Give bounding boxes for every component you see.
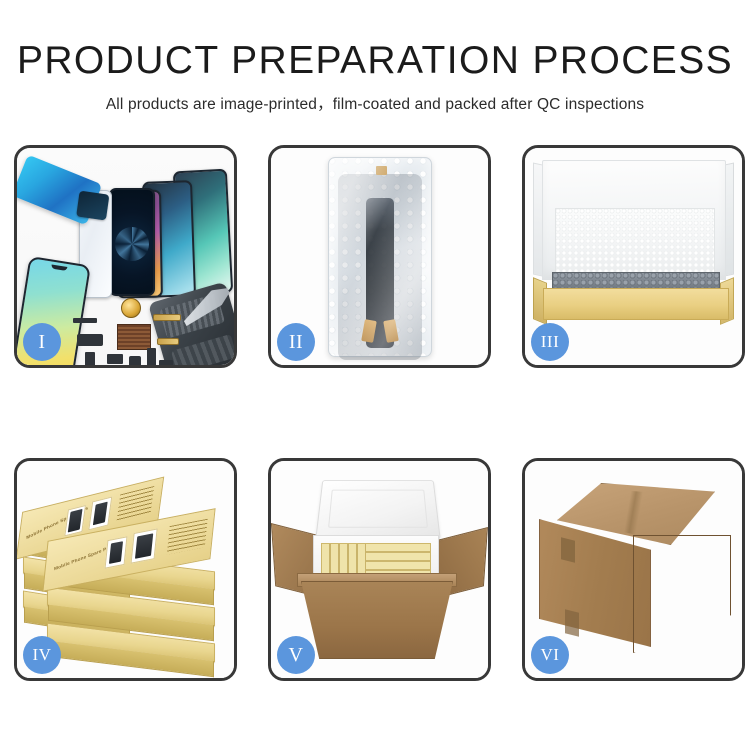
bubble-wrap-bag-icon <box>328 157 432 357</box>
process-step-4[interactable]: Mobile Phone Spare Parts Mobile Phone Sp… <box>14 458 237 681</box>
step-5-badge: V <box>277 636 315 674</box>
flex-cable-1-icon <box>153 314 181 321</box>
part-shield-icon <box>159 360 173 368</box>
step-6-badge: VI <box>531 636 569 674</box>
box-window-2b <box>131 528 158 563</box>
adhesive-film-icon <box>14 155 102 226</box>
box-spec-lines-2 <box>167 519 208 555</box>
part-screw-icon <box>147 348 156 366</box>
process-step-2[interactable]: II <box>268 145 491 368</box>
carton-body <box>301 581 453 659</box>
carton-loading-icon <box>277 469 482 662</box>
vibrator-motor-icon <box>121 298 141 318</box>
inner-box-icon <box>533 160 734 331</box>
spare-parts-cluster <box>73 300 213 368</box>
sealed-carton-icon <box>539 483 731 653</box>
box-window-1a <box>64 505 86 536</box>
process-step-3[interactable]: III <box>522 145 745 368</box>
phone-display-2-icon <box>109 188 155 296</box>
step-4-badge: IV <box>23 636 61 674</box>
part-button-icon <box>129 356 141 368</box>
box-window-1b <box>88 496 112 530</box>
carton-right-face <box>633 535 731 653</box>
flex-cable-2-icon <box>157 338 179 345</box>
process-step-grid: I II <box>14 145 736 678</box>
step-2-badge: II <box>277 323 315 361</box>
part-camera-icon <box>77 334 103 346</box>
styrofoam-lid-icon <box>315 480 441 539</box>
logic-board-icon <box>117 324 151 350</box>
carton-tape-lower <box>565 609 579 636</box>
part-clip-icon <box>85 352 95 368</box>
plastic-sheen <box>329 158 431 356</box>
box-spec-lines-1 <box>117 486 155 521</box>
process-step-6[interactable]: VI <box>522 458 745 681</box>
step-3-badge: III <box>531 323 569 361</box>
process-step-1[interactable]: I <box>14 145 237 368</box>
part-bracket-icon <box>73 318 97 323</box>
process-step-5[interactable]: V <box>268 458 491 681</box>
kraft-tray-icon <box>543 288 729 320</box>
header: PRODUCT PREPARATION PROCESS All products… <box>0 0 750 114</box>
carton-tape-upper <box>561 537 575 562</box>
step-1-badge: I <box>23 323 61 361</box>
page-title: PRODUCT PREPARATION PROCESS <box>0 40 750 82</box>
part-speaker-icon <box>107 354 123 364</box>
box-window-2a <box>105 536 128 568</box>
page-subtitle: All products are image-printed，film-coat… <box>0 92 750 114</box>
white-foam-icon <box>555 208 715 274</box>
